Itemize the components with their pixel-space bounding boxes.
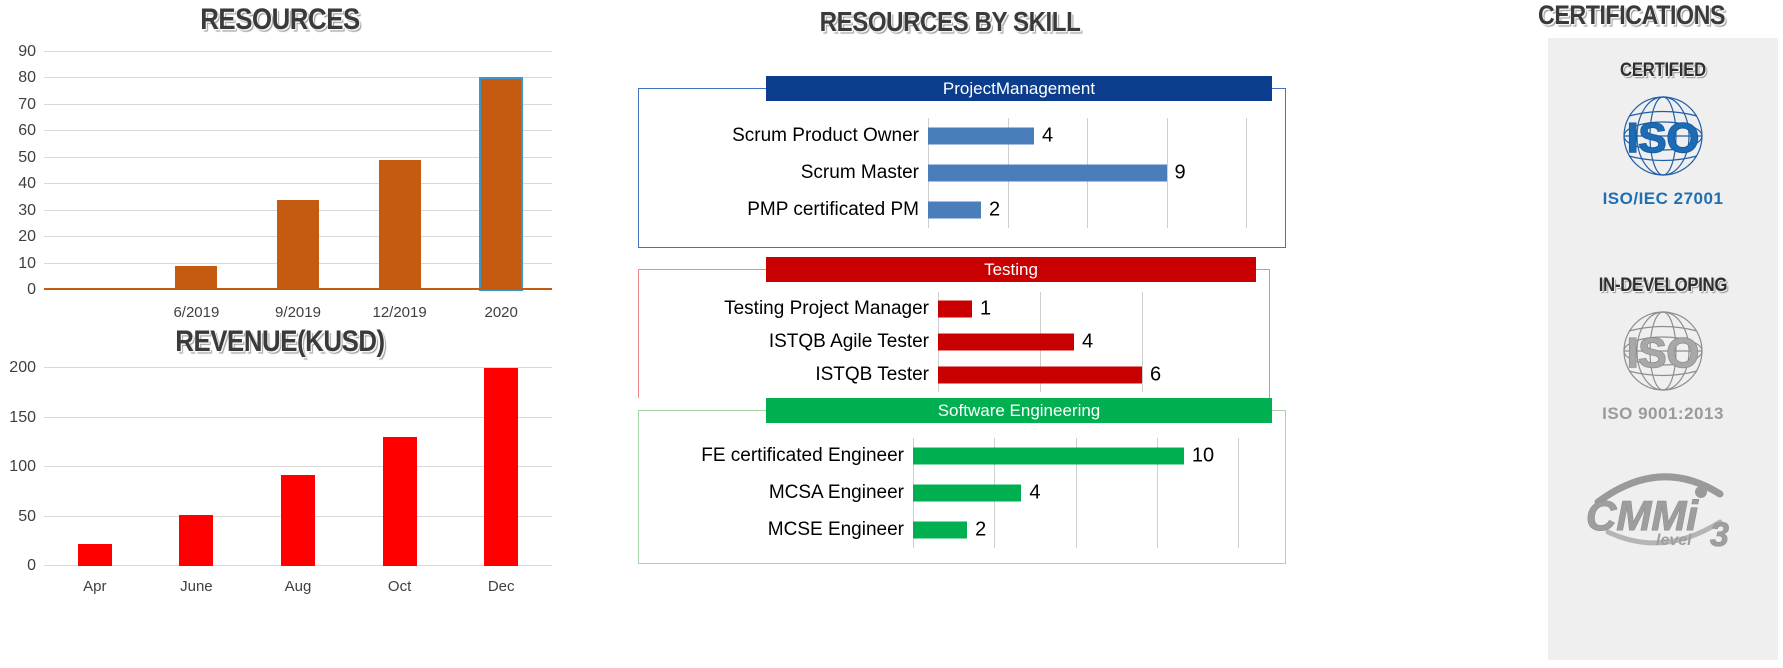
iso-27001-caption: ISO/IEC 27001 — [1548, 189, 1778, 209]
skill-row-label: Testing Project Manager — [724, 298, 929, 320]
skill-row-value: 4 — [1042, 125, 1053, 148]
skill-row-label: ISTQB Tester — [815, 364, 929, 386]
x-axis-tick-label: 9/2019 — [275, 304, 321, 321]
y-axis-tick-label: 90 — [18, 44, 36, 60]
y-axis-tick-label: 0 — [27, 282, 36, 298]
y-axis-tick-label: 40 — [18, 176, 36, 192]
skill-row-bar — [913, 448, 1184, 465]
cmmi-logo-block: CMMi level 3 — [1548, 450, 1778, 560]
y-axis-tick-label: 0 — [27, 558, 36, 574]
skill-row-label: MCSE Engineer — [768, 519, 904, 541]
skill-row: Testing Project Manager1 — [938, 292, 1142, 325]
y-axis-tick-label: 150 — [9, 410, 36, 426]
iso-globe-grey-icon: ISO — [1593, 305, 1733, 397]
y-axis-tick-label: 30 — [18, 203, 36, 219]
skill-row-value: 10 — [1192, 445, 1214, 468]
skill-row: ISTQB Agile Tester4 — [938, 325, 1142, 358]
vertical-gridline — [1142, 292, 1143, 392]
skill-row-value: 1 — [980, 297, 991, 320]
skill-row-bar — [913, 484, 1021, 501]
skill-row-bar — [938, 333, 1074, 350]
iso-9001-logo-block: ISO ISO 9001:2013 — [1548, 305, 1778, 424]
skill-group-header-label: Testing — [766, 257, 1256, 282]
x-axis-tick-label: 6/2019 — [173, 304, 219, 321]
skill-row-bar — [928, 201, 981, 218]
skill-row: Scrum Master9 — [928, 155, 1246, 192]
dashboard-root: RESOURCES 01020304050607080906/20199/201… — [0, 0, 1783, 668]
skill-group-testing: Testing Testing Project Manager1ISTQB Ag… — [638, 257, 1270, 399]
gridline — [44, 367, 552, 368]
resources-chart-title: RESOURCES — [39, 3, 521, 37]
y-axis-tick-label: 10 — [18, 256, 36, 272]
bar — [480, 78, 522, 290]
x-axis-tick-label: June — [180, 578, 213, 595]
cmmi-level-number: 3 — [1710, 516, 1729, 554]
skill-row-label: PMP certificated PM — [747, 199, 919, 221]
skill-row-bar — [913, 521, 967, 538]
skill-group-header-label: Software Engineering — [766, 398, 1272, 423]
skill-row: MCSE Engineer2 — [913, 511, 1238, 548]
bar — [484, 368, 518, 566]
skill-row-value: 2 — [975, 518, 986, 541]
gridline — [44, 183, 552, 184]
gridline — [44, 417, 552, 418]
y-axis-tick-label: 50 — [18, 150, 36, 166]
bar — [383, 437, 417, 566]
skill-row-value: 6 — [1150, 364, 1161, 387]
gridline — [44, 157, 552, 158]
skill-row: MCSA Engineer4 — [913, 475, 1238, 512]
skill-row-label: MCSA Engineer — [769, 482, 904, 504]
gridline — [44, 51, 552, 52]
y-axis-tick-label: 20 — [18, 229, 36, 245]
gridline — [44, 466, 552, 467]
skill-rows: Scrum Product Owner4Scrum Master9PMP cer… — [928, 118, 1246, 228]
iso-wordmark-grey: ISO — [1627, 329, 1699, 376]
skill-rows: FE certificated Engineer10MCSA Engineer4… — [913, 438, 1238, 548]
certifications-title: CERTIFICATIONS — [1501, 0, 1762, 31]
skill-group-software-engineering: Software Engineering FE certificated Eng… — [638, 398, 1286, 564]
gridline — [44, 77, 552, 78]
x-axis-tick-label: Dec — [488, 578, 515, 595]
skill-row-bar — [928, 164, 1167, 181]
iso-27001-logo-block: ISO ISO/IEC 27001 — [1548, 90, 1778, 209]
skill-row: FE certificated Engineer10 — [913, 438, 1238, 475]
gridline — [44, 104, 552, 105]
skill-row-value: 2 — [989, 198, 1000, 221]
vertical-gridline — [1238, 438, 1239, 548]
x-axis-tick-label: 2020 — [485, 304, 518, 321]
resources-bar-chart: 01020304050607080906/20199/201912/201920… — [44, 52, 552, 290]
in-developing-status-label: IN-DEVELOPING — [1562, 275, 1764, 297]
left-charts-column: RESOURCES 01020304050607080906/20199/201… — [0, 0, 560, 668]
certified-status-label: CERTIFIED — [1562, 60, 1764, 82]
skill-group-project-management: ProjectManagement Scrum Product Owner4Sc… — [638, 76, 1286, 248]
resources-plot-area: 01020304050607080906/20199/201912/201920… — [44, 52, 552, 290]
x-axis-tick-label: 12/2019 — [372, 304, 426, 321]
resources-baseline — [44, 288, 552, 290]
skill-row-value: 4 — [1082, 330, 1093, 353]
x-axis-tick-label: Apr — [83, 578, 106, 595]
gridline — [44, 130, 552, 131]
skill-row-label: ISTQB Agile Tester — [769, 331, 929, 353]
y-axis-tick-label: 80 — [18, 70, 36, 86]
skill-row-label: FE certificated Engineer — [701, 445, 904, 467]
bar — [179, 515, 213, 566]
skill-row: PMP certificated PM2 — [928, 191, 1246, 228]
cmmi-level-label: level — [1656, 532, 1692, 549]
bar — [175, 266, 217, 290]
skill-row-label: Scrum Product Owner — [732, 125, 919, 147]
cmmi-level3-icon: CMMi level 3 — [1568, 450, 1758, 555]
skill-row-label: Scrum Master — [801, 162, 919, 184]
skill-rows: Testing Project Manager1ISTQB Agile Test… — [938, 292, 1142, 392]
iso-globe-blue-icon: ISO — [1593, 90, 1733, 182]
skill-row-value: 9 — [1175, 161, 1186, 184]
vertical-gridline — [1246, 118, 1247, 228]
skill-row-bar — [928, 128, 1034, 145]
skill-row-bar — [938, 367, 1142, 384]
y-axis-tick-label: 50 — [18, 509, 36, 525]
skills-column: ProjectManagement Scrum Product Owner4Sc… — [620, 0, 1300, 668]
skill-row-value: 4 — [1029, 481, 1040, 504]
x-axis-tick-label: Aug — [285, 578, 312, 595]
y-axis-tick-label: 60 — [18, 123, 36, 139]
y-axis-tick-label: 70 — [18, 97, 36, 113]
bar — [78, 544, 112, 566]
certifications-panel: CERTIFIED ISO ISO/IEC 27001 IN-DEVELOPIN… — [1548, 38, 1778, 660]
skill-row: ISTQB Tester6 — [938, 359, 1142, 392]
skill-row: Scrum Product Owner4 — [928, 118, 1246, 155]
y-axis-tick-label: 100 — [9, 459, 36, 475]
bar — [379, 160, 421, 290]
iso-9001-caption: ISO 9001:2013 — [1548, 404, 1778, 424]
revenue-chart-title: REVENUE(KUSD) — [39, 325, 521, 359]
revenue-plot-area: 050100150200AprJuneAugOctDec — [44, 368, 552, 566]
y-axis-tick-label: 200 — [9, 360, 36, 376]
revenue-bar-chart: 050100150200AprJuneAugOctDec — [44, 368, 552, 566]
bar — [277, 200, 319, 290]
skill-group-header-label: ProjectManagement — [766, 76, 1272, 101]
skill-row-bar — [938, 300, 972, 317]
x-axis-tick-label: Oct — [388, 578, 411, 595]
bar — [281, 475, 315, 566]
iso-wordmark-blue: ISO — [1627, 114, 1699, 161]
